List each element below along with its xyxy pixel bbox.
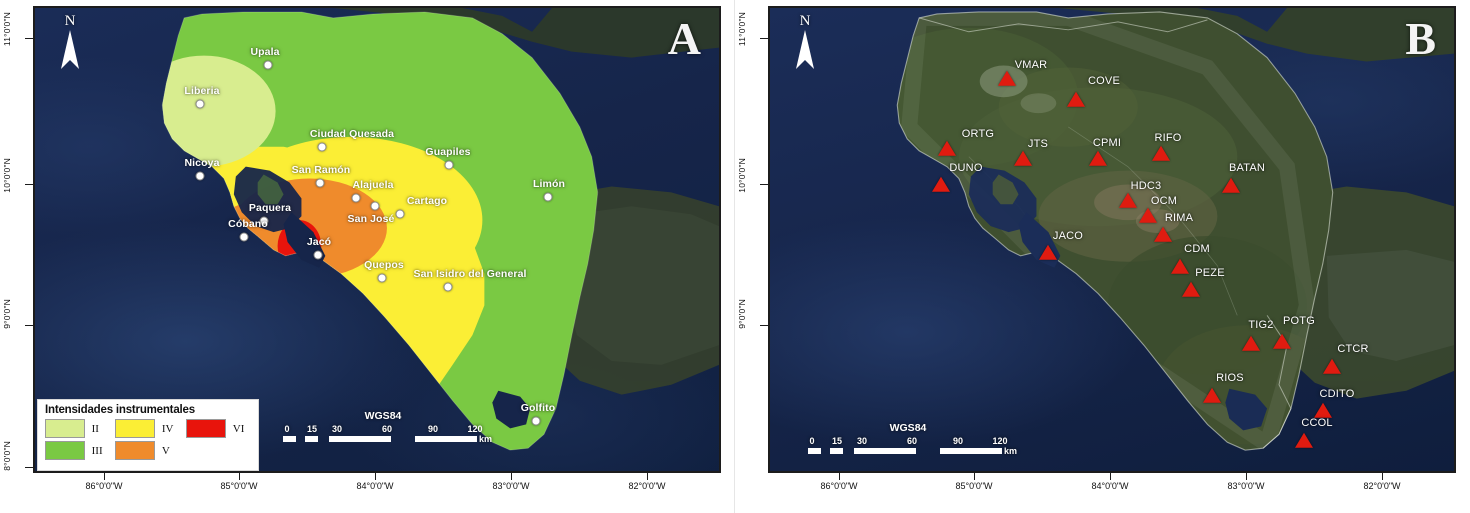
north-arrow-letter: N [53,14,87,28]
city-label: Upala [250,46,279,58]
scalebar-units-b: km [1004,446,1017,456]
station-marker-triangle[interactable] [1295,433,1313,448]
scalebar-numbers-b: 0 15 30 60 90 120 [808,436,1008,448]
station-marker-triangle[interactable] [1203,388,1221,403]
city-label: San Ramón [292,164,351,176]
station-marker-triangle[interactable] [998,71,1016,86]
city-label: Guapiles [425,146,470,158]
legend-swatch-vi [186,419,226,438]
station-marker-triangle[interactable] [1139,208,1157,223]
station-label: POTG [1283,315,1315,327]
station-label: CPMI [1093,137,1121,149]
lon-tick [511,473,512,480]
station-label: RIOS [1216,372,1244,384]
scalebar-tick-90: 90 [428,424,438,434]
station-label: TIG2 [1248,319,1273,331]
city-label: Jacó [307,236,331,248]
city-label: Cóbano [228,218,268,230]
lon-tick [104,473,105,480]
lat-tick [25,467,33,468]
lon-label-82w: 82°0'0"W [628,481,665,491]
city-label: Quepos [364,259,404,271]
station-label: CTCR [1337,343,1368,355]
city-label: Ciudad Quesada [310,128,394,140]
station-marker-triangle[interactable] [1323,359,1341,374]
lat-tick [25,38,33,39]
city-marker[interactable] [352,194,361,203]
datum-label-b: WGS84 [808,422,1008,434]
scalebar-bars-a: km [283,436,483,443]
station-label: CDITO [1319,388,1354,400]
station-label: PEZE [1195,267,1225,279]
legend-title: Intensidades instrumentales [45,404,252,416]
city-marker[interactable] [371,202,380,211]
lat-label-9n: 9°0'0"N [2,299,12,329]
panel-a-map[interactable]: N A UpalaLiberiaCiudad QuesadaGuapilesNi… [33,6,721,473]
legend-swatch-iii [45,441,85,460]
lon-tick [647,473,648,480]
city-marker[interactable] [532,417,541,426]
station-marker-triangle[interactable] [1314,403,1332,418]
scalebar-tick-60: 60 [907,436,917,446]
legend-entries: IIIVVIIIIV [45,419,252,460]
station-marker-triangle[interactable] [1067,92,1085,107]
legend-swatch-iv [115,419,155,438]
legend-label-ii: II [92,423,111,435]
station-marker-triangle[interactable] [1089,151,1107,166]
lon-label-86w: 86°0'0"W [820,481,857,491]
north-arrow-icon [794,29,816,73]
zone-ii [132,56,275,167]
station-marker-triangle[interactable] [1152,146,1170,161]
lon-label-85w: 85°0'0"W [220,481,257,491]
lat-tick [25,184,33,185]
legend-swatch-ii [45,419,85,438]
panel-b: 11°0'0"N 10°0'0"N 9°0'0"N 86°0'0"W 85°0'… [735,0,1470,513]
city-label: Limón [533,178,565,190]
lon-tick [375,473,376,480]
scalebar-b: WGS84 0 15 30 60 90 120 km [808,422,1008,455]
scalebar-units-a: km [479,434,492,444]
panel-letter-a: A [668,12,701,65]
station-marker-triangle[interactable] [932,177,950,192]
scalebar-tick-15: 15 [832,436,842,446]
station-marker-triangle[interactable] [1242,336,1260,351]
city-marker[interactable] [318,143,327,152]
lat-tick [25,325,33,326]
lon-label-83w: 83°0'0"W [1227,481,1264,491]
scalebar-tick-120: 120 [467,424,482,434]
station-label: OCM [1151,195,1177,207]
panel-a: 11°0'0"N 10°0'0"N 9°0'0"N 8°0'0"N 86°0'0… [0,0,735,513]
lon-tick [1110,473,1111,480]
lat-tick [760,325,768,326]
station-marker-triangle[interactable] [1273,334,1291,349]
lat-tick [760,184,768,185]
legend-label-iii: III [92,445,111,457]
city-label: San Isidro del General [413,268,526,280]
scalebar-bars-b: km [808,448,1008,455]
station-marker-triangle[interactable] [1222,178,1240,193]
city-label: San José [348,213,395,225]
lon-label-84w: 84°0'0"W [1091,481,1128,491]
city-marker[interactable] [240,233,249,242]
north-arrow-icon [59,29,81,73]
station-marker-triangle[interactable] [1119,193,1137,208]
station-marker-triangle[interactable] [1182,282,1200,297]
city-label: Nicoya [184,157,219,169]
station-label: CCOL [1301,417,1332,429]
lon-tick [839,473,840,480]
lat-label-10n: 10°0'0"N [2,158,12,193]
lon-tick [1246,473,1247,480]
panel-b-map[interactable]: N B VMARCOVEORTGJTSCPMIRIFODUNOBATANHDC3… [768,6,1456,473]
north-arrow-letter: N [788,14,822,28]
station-label: BATAN [1229,162,1265,174]
city-marker[interactable] [316,179,325,188]
scalebar-tick-30: 30 [332,424,342,434]
lat-tick [760,38,768,39]
city-marker[interactable] [314,251,323,260]
city-marker[interactable] [378,274,387,283]
station-label: HDC3 [1131,180,1162,192]
station-label: JACO [1053,230,1083,242]
lat-label-8n: 8°0'0"N [2,441,12,471]
legend-label-iv: IV [162,423,181,435]
station-marker-triangle[interactable] [938,141,956,156]
lat-label-11n: 11°0'0"N [737,12,747,46]
station-marker-triangle[interactable] [1039,245,1057,260]
lon-label-85w: 85°0'0"W [955,481,992,491]
station-label: JTS [1028,138,1048,150]
station-label: DUNO [949,162,982,174]
lon-label-83w: 83°0'0"W [492,481,529,491]
lat-label-11n: 11°0'0"N [2,12,12,46]
lon-label-84w: 84°0'0"W [356,481,393,491]
city-marker[interactable] [444,283,453,292]
lat-label-10n: 10°0'0"N [737,158,747,193]
scalebar-tick-30: 30 [857,436,867,446]
lon-tick [239,473,240,480]
city-marker[interactable] [196,100,205,109]
station-label: RIFO [1154,132,1181,144]
station-label: ORTG [962,128,994,140]
north-arrow: N [53,14,87,76]
city-label: Alajuela [352,179,393,191]
north-arrow: N [788,14,822,76]
station-label: VMAR [1015,59,1048,71]
scalebar-tick-0: 0 [809,436,814,446]
scalebar-tick-90: 90 [953,436,963,446]
city-label: Paquera [249,202,291,214]
city-label: Liberia [184,85,219,97]
station-label: CDM [1184,243,1210,255]
city-marker[interactable] [396,210,405,219]
legend-label-v: V [162,445,181,457]
datum-label-a: WGS84 [283,410,483,422]
station-label: COVE [1088,75,1120,87]
panel-letter-b: B [1405,12,1436,65]
city-marker[interactable] [445,161,454,170]
city-marker[interactable] [196,172,205,181]
legend-intensities: Intensidades instrumentales IIIVVIIIIV [37,399,259,471]
city-label: Cartago [407,195,447,207]
station-label: RIMA [1165,212,1193,224]
lat-label-9n: 9°0'0"N [737,299,747,329]
lon-tick [974,473,975,480]
lon-tick [1382,473,1383,480]
scalebar-tick-120: 120 [992,436,1007,446]
lon-label-82w: 82°0'0"W [1363,481,1400,491]
scalebar-tick-0: 0 [284,424,289,434]
scalebar-a: WGS84 0 15 30 60 90 120 km [283,410,483,443]
legend-label-vi: VI [233,423,252,435]
station-marker-triangle[interactable] [1171,259,1189,274]
scalebar-numbers-a: 0 15 30 60 90 120 [283,424,483,436]
two-panel-map-figure: 11°0'0"N 10°0'0"N 9°0'0"N 8°0'0"N 86°0'0… [0,0,1470,513]
city-marker[interactable] [264,61,273,70]
scalebar-tick-60: 60 [382,424,392,434]
legend-swatch-v [115,441,155,460]
scalebar-tick-15: 15 [307,424,317,434]
lon-label-86w: 86°0'0"W [85,481,122,491]
station-marker-triangle[interactable] [1154,227,1172,242]
city-label: Golfito [521,402,556,414]
city-marker[interactable] [544,193,553,202]
station-marker-triangle[interactable] [1014,151,1032,166]
